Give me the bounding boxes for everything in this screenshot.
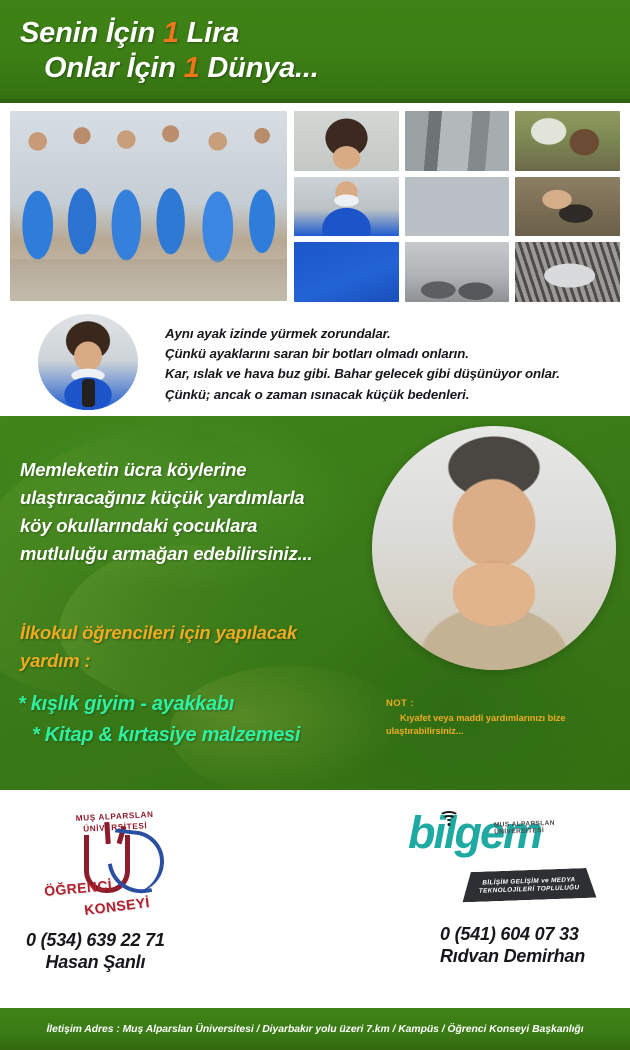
aid-heading: İlkokul öğrencileri için yapılacak yardı…	[20, 619, 390, 675]
wifi-icon	[438, 810, 460, 826]
photo-torn-shoe	[515, 242, 620, 302]
logo-university: MUŞ ALPARSLAN ÜNİVERSİTESİ ÖĞRENCİ KONSE…	[40, 812, 190, 920]
contact-ridvan: 0 (541) 604 07 33 Rıdvan Demirhan	[440, 924, 585, 967]
quote-line-1: Aynı ayak izinde yürmek zorundalar.	[165, 324, 615, 344]
main-message-line-1: Memleketin ücra köylerine	[20, 456, 378, 484]
main-message-panel: Memleketin ücra köylerine ulaştıracağını…	[0, 416, 630, 790]
photo-child-bending	[515, 111, 620, 171]
quote-line-3: Kar, ıslak ve hava buz gibi. Bahar gelec…	[165, 364, 615, 384]
quote-line-4: Çünkü; ancak o zaman ısınacak küçük bede…	[165, 385, 615, 405]
note-block: NOT : Kıyafet veya maddi yardımlarınızı …	[386, 698, 622, 739]
campaign-poster: Senin İçin 1 Lira Onlar İçin 1 Dünya... …	[0, 0, 630, 1050]
headline-line-2-part-a: Onlar İçin	[44, 52, 184, 84]
note-body-line-1: Kıyafet veya maddi yardımlarınızı bize	[386, 712, 622, 725]
aid-items-list: * kışlık giyim - ayakkabı * Kitap & kırt…	[18, 689, 408, 751]
headline-line-2-part-b: Dünya...	[200, 52, 319, 84]
photo-girl-face	[294, 111, 399, 171]
note-body-line-2: ulaştırabilirsiniz...	[386, 726, 463, 736]
logo-bilgem-banner: BİLİŞİM GELİŞİM ve MEDYA TEKNOLOJİLERİ T…	[462, 868, 597, 903]
headline-line-2-number: 1	[184, 52, 200, 84]
photo-girl-skirt	[294, 242, 399, 302]
logo-contact-section: MUŞ ALPARSLAN ÜNİVERSİTESİ ÖĞRENCİ KONSE…	[0, 790, 630, 1008]
photo-grid	[294, 111, 620, 302]
aid-item-stationery: * Kitap & kırtasiye malzemesi	[18, 720, 408, 751]
note-body: Kıyafet veya maddi yardımlarınızı bize u…	[386, 712, 622, 739]
poster-footer: İletişim Adres : Muş Alparslan Üniversit…	[0, 1008, 630, 1050]
aid-heading-line-1: İlkokul öğrencileri için yapılacak	[20, 619, 390, 647]
headline-line-1-part-b: Lira	[179, 17, 239, 49]
quote-line-2: Çünkü ayaklarını saran bir botları olmad…	[165, 344, 615, 364]
photo-girl-uniform	[294, 177, 399, 237]
quote-photo-girl	[38, 314, 138, 410]
contact-ridvan-name: Rıdvan Demirhan	[440, 946, 585, 967]
logo-bilgem: MUŞ ALPARSLAN ÜNİVERSİTESİ bilgem BİLİŞİ…	[408, 812, 598, 912]
photo-trousers-closeup	[405, 177, 510, 237]
photo-boy-circle	[372, 426, 616, 670]
quote-section: Aynı ayak izinde yürmek zorundalar. Çünk…	[0, 308, 630, 416]
contact-hasan-phone[interactable]: 0 (534) 639 22 71	[26, 930, 165, 951]
quote-text: Aynı ayak izinde yürmek zorundalar. Çünk…	[165, 324, 615, 405]
photo-worn-trousers	[405, 111, 510, 171]
main-message-line-2: ulaştıracağınız küçük yardımlarla	[20, 484, 378, 512]
main-message-line-3: köy okullarındaki çocuklara	[20, 512, 378, 540]
photo-hands-shoes	[515, 177, 620, 237]
note-title: NOT :	[386, 698, 622, 709]
headline-line-1-part-a: Senin İçin	[20, 17, 163, 49]
aid-item-clothing: * kışlık giyim - ayakkabı	[18, 689, 408, 720]
headline-line-2: Onlar İçin 1 Dünya...	[20, 51, 630, 86]
contact-hasan-name: Hasan Şanlı	[26, 952, 165, 973]
footer-address: İletişim Adres : Muş Alparslan Üniversit…	[46, 1024, 583, 1035]
aid-heading-line-2: yardım :	[20, 647, 390, 675]
contact-ridvan-phone[interactable]: 0 (541) 604 07 33	[440, 924, 585, 945]
photo-collage	[0, 103, 630, 308]
headline-line-1-number: 1	[163, 17, 179, 49]
logo-university-bottom-line-2: KONSEYİ	[83, 894, 150, 918]
headline-line-1: Senin İçin 1 Lira	[20, 16, 630, 51]
main-message-text: Memleketin ücra köylerine ulaştıracağını…	[20, 456, 378, 568]
photo-worn-boots	[405, 242, 510, 302]
contact-hasan: 0 (534) 639 22 71 Hasan Şanlı	[26, 930, 165, 973]
header-inner: Senin İçin 1 Lira Onlar İçin 1 Dünya...	[0, 0, 630, 87]
main-message-line-4: mutluluğu armağan edebilirsiniz...	[20, 540, 378, 568]
photo-schoolchildren	[10, 111, 287, 301]
poster-header: Senin İçin 1 Lira Onlar İçin 1 Dünya...	[0, 0, 630, 103]
